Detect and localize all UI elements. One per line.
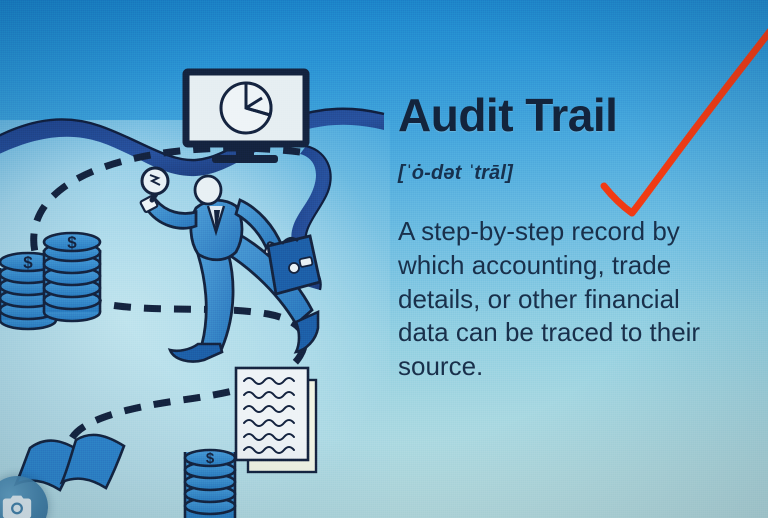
camera-button[interactable] [0, 476, 48, 518]
screenshot-root: $ $ [0, 0, 768, 518]
camera-icon [0, 490, 34, 518]
overlay-ui-layer [0, 0, 768, 518]
